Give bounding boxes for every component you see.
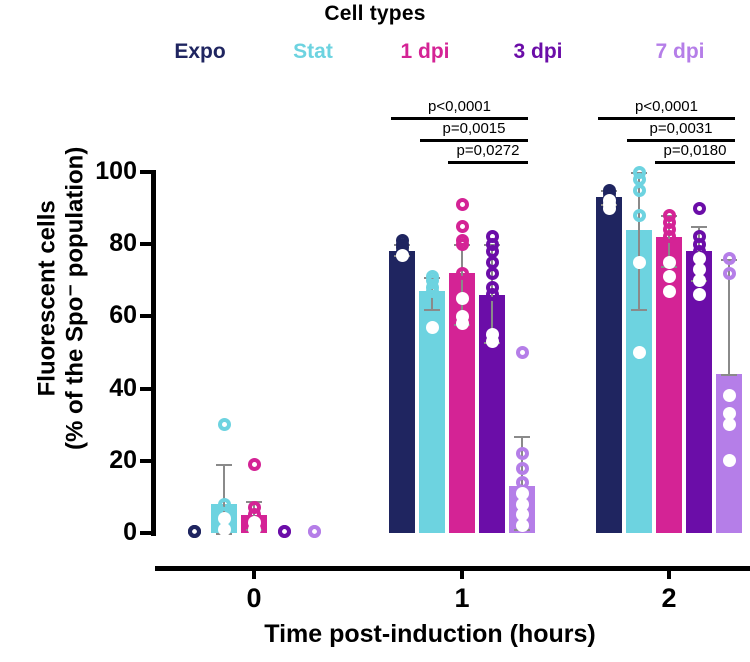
data-point — [456, 317, 469, 330]
error-cap — [631, 309, 647, 311]
data-point — [486, 230, 499, 243]
significance-line — [655, 161, 735, 164]
error-cap — [424, 309, 440, 311]
significance-label: p=0,0272 — [448, 142, 528, 159]
y-axis-line — [151, 170, 156, 536]
bar-Expo-t1 — [389, 251, 415, 533]
data-point — [486, 335, 499, 348]
data-point — [633, 184, 646, 197]
x-tick-label-2: 2 — [639, 583, 699, 614]
data-point-outlier — [248, 458, 261, 471]
data-point — [633, 256, 646, 269]
error-cap — [514, 436, 530, 438]
chart-figure: Cell types Expo Stat 1 dpi 3 dpi 7 dpi F… — [0, 0, 750, 662]
data-point — [278, 525, 291, 538]
x-tick-label-0: 0 — [224, 583, 284, 614]
y-tick-60 — [140, 314, 152, 318]
data-point — [456, 198, 469, 211]
data-point — [693, 274, 706, 287]
x-axis-line — [155, 566, 750, 571]
data-point — [486, 267, 499, 280]
data-point — [396, 249, 409, 262]
data-point — [663, 256, 676, 269]
data-point — [218, 498, 231, 511]
data-point — [633, 209, 646, 222]
significance-label: p=0,0180 — [655, 142, 735, 159]
data-point — [396, 234, 409, 247]
error-cap — [721, 374, 737, 376]
data-point — [663, 209, 676, 222]
data-point — [663, 285, 676, 298]
data-point — [426, 285, 439, 298]
significance-label: p<0,0001 — [598, 98, 735, 115]
legend-item-expo: Expo — [140, 40, 260, 64]
legend-item-1dpi: 1 dpi — [365, 40, 485, 64]
x-tick-1 — [460, 566, 464, 579]
legend-item-3dpi: 3 dpi — [478, 40, 598, 64]
data-point-outlier — [218, 418, 231, 431]
data-point — [516, 519, 529, 532]
error-cap — [216, 464, 232, 466]
y-tick-label-0: 0 — [75, 520, 137, 545]
data-point — [603, 202, 616, 215]
legend-item-stat: Stat — [253, 40, 373, 64]
y-tick-label-40: 40 — [75, 376, 137, 401]
data-point-outlier — [723, 252, 736, 265]
data-point — [248, 523, 261, 536]
y-tick-label-60: 60 — [75, 303, 137, 328]
data-point — [663, 270, 676, 283]
data-point — [456, 292, 469, 305]
data-point — [633, 346, 646, 359]
y-tick-100 — [140, 170, 152, 174]
data-point — [723, 389, 736, 402]
data-point-outlier — [723, 267, 736, 280]
x-axis-title: Time post-induction (hours) — [110, 620, 750, 649]
data-point — [456, 220, 469, 233]
y-tick-80 — [140, 242, 152, 246]
significance-label: p=0,0031 — [627, 120, 735, 137]
data-point — [516, 447, 529, 460]
data-point — [308, 525, 321, 538]
data-point — [516, 462, 529, 475]
data-point — [723, 454, 736, 467]
x-tick-2 — [667, 566, 671, 579]
data-point — [218, 523, 231, 536]
y-tick-label-80: 80 — [75, 231, 137, 256]
x-tick-label-1: 1 — [432, 583, 492, 614]
legend-item-7dpi: 7 dpi — [620, 40, 740, 64]
chart-title: Cell types — [0, 2, 750, 26]
data-point-outlier — [516, 346, 529, 359]
y-tick-0 — [140, 531, 152, 535]
data-point — [426, 321, 439, 334]
data-point-outlier — [693, 202, 706, 215]
data-point — [693, 288, 706, 301]
data-point — [188, 525, 201, 538]
data-point — [663, 230, 676, 243]
data-point — [456, 234, 469, 247]
x-tick-0 — [252, 566, 256, 579]
significance-label: p<0,0001 — [391, 98, 528, 115]
error-cap — [691, 226, 707, 228]
y-tick-label-20: 20 — [75, 448, 137, 473]
y-axis-title-line1: Fluorescent cells — [34, 118, 62, 478]
y-tick-40 — [140, 387, 152, 391]
significance-label: p=0,0015 — [420, 120, 528, 137]
bar-Expo-t2 — [596, 197, 622, 533]
data-point — [486, 288, 499, 301]
y-tick-label-100: 100 — [75, 159, 137, 184]
y-tick-20 — [140, 459, 152, 463]
significance-line — [448, 161, 528, 164]
data-point — [456, 267, 469, 280]
data-point — [426, 270, 439, 283]
data-point — [723, 418, 736, 431]
